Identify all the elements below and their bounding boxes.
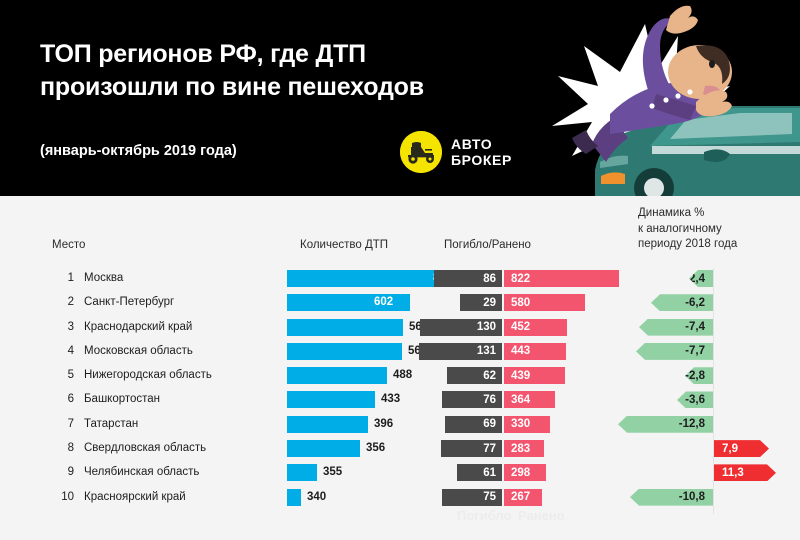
accidents-bar [287, 367, 387, 384]
vintage-car-icon [400, 131, 442, 173]
killed-value: 130 [477, 321, 502, 333]
title-line-2: произошли по вине пешеходов [40, 71, 470, 104]
accidents-value: 602 [374, 296, 393, 308]
killed-bar: 76 [442, 391, 502, 408]
injured-value: 443 [504, 345, 530, 357]
dynamics-value: -2,4 [685, 273, 713, 285]
column-header-count: Количество ДТП [300, 238, 388, 254]
injured-bar: 439 [504, 367, 565, 384]
row-rank: 6 [52, 393, 74, 405]
table-row: 1Москва89386822-2,4 [0, 268, 800, 292]
logo-line-2: БРОКЕР [451, 152, 512, 168]
logo-text: АВТО БРОКЕР [451, 136, 512, 168]
dynamics-header-line-2: к аналогичному [638, 222, 737, 238]
dynamics-decrease-arrow: -6,2 [651, 294, 713, 311]
killed-bar: 69 [445, 416, 502, 433]
row-region-name: Краснодарский край [84, 321, 192, 333]
dynamics-decrease-arrow: -12,8 [618, 416, 713, 433]
injured-value: 364 [504, 394, 530, 406]
accidents-bar [287, 416, 368, 433]
table-row: 5Нижегородская область48862439-2,8 [0, 365, 800, 389]
pedestrian-hit-by-car-illustration [500, 0, 800, 196]
table-row: 4Московская область562131443-7,7 [0, 341, 800, 365]
dynamics-increase-arrow: 11,3 [714, 464, 776, 481]
injured-value: 298 [504, 467, 530, 479]
injured-bar: 580 [504, 294, 585, 311]
row-region-name: Татарстан [84, 418, 138, 430]
dynamics-decrease-arrow: -2,4 [689, 270, 713, 287]
injured-bar: 452 [504, 319, 567, 336]
column-header-dead-injured: Погибло/Ранено [444, 238, 531, 254]
row-rank: 7 [52, 418, 74, 430]
row-region-name: Нижегородская область [84, 369, 212, 381]
dynamics-decrease-arrow: -10,8 [630, 489, 713, 506]
killed-value: 29 [483, 297, 502, 309]
dynamics-value: 7,9 [714, 443, 738, 455]
row-region-name: Москва [84, 272, 123, 284]
logo-line-1: АВТО [451, 136, 512, 152]
row-rank: 9 [52, 466, 74, 478]
row-rank: 8 [52, 442, 74, 454]
killed-value: 69 [483, 418, 502, 430]
table-row: 9Челябинская область3556129811,3 [0, 462, 800, 486]
table-row: 10Красноярский край34075267-10,8 [0, 487, 800, 511]
accidents-bar [287, 319, 403, 336]
dynamics-value: -7,4 [685, 321, 713, 333]
killed-bar: 75 [442, 489, 502, 506]
injured-bar: 267 [504, 489, 542, 506]
killed-bar: 77 [441, 440, 502, 457]
column-header-place: Место [52, 238, 85, 254]
killed-bar: 62 [447, 367, 502, 384]
page-subtitle: (январь-октябрь 2019 года) [40, 143, 237, 159]
dynamics-value: -2,8 [685, 370, 713, 382]
accidents-value: 340 [307, 491, 326, 503]
killed-value: 131 [477, 345, 502, 357]
table-row: 8Свердловская область356772837,9 [0, 438, 800, 462]
accidents-value: 356 [366, 442, 385, 454]
accidents-bar [287, 391, 375, 408]
injured-value: 580 [504, 297, 530, 309]
dynamics-decrease-arrow: -7,7 [636, 343, 713, 360]
injured-value: 439 [504, 370, 530, 382]
dynamics-increase-arrow: 7,9 [714, 440, 769, 457]
header-banner: ТОП регионов РФ, где ДТП произошли по ви… [0, 0, 800, 196]
row-rank: 2 [52, 296, 74, 308]
injured-bar: 364 [504, 391, 555, 408]
killed-bar: 131 [419, 343, 502, 360]
dynamics-decrease-arrow: -7,4 [639, 319, 713, 336]
table-row: 2Санкт-Петербург60229580-6,2 [0, 292, 800, 316]
injured-bar: 822 [504, 270, 619, 287]
row-region-name: Челябинская область [84, 466, 199, 478]
dynamics-value: -12,8 [679, 418, 713, 430]
injured-value: 452 [504, 321, 530, 333]
injured-value: 267 [504, 491, 530, 503]
row-region-name: Санкт-Петербург [84, 296, 174, 308]
injured-bar: 443 [504, 343, 566, 360]
dynamics-value: -10,8 [679, 491, 713, 503]
killed-bar: 130 [420, 319, 502, 336]
killed-bar: 29 [460, 294, 502, 311]
row-region-name: Московская область [84, 345, 193, 357]
killed-value: 62 [483, 370, 502, 382]
accidents-value: 433 [381, 393, 400, 405]
row-region-name: Башкортостан [84, 393, 160, 405]
killed-value: 76 [483, 394, 502, 406]
dynamics-header-line-3: периоду 2018 года [638, 237, 737, 253]
killed-bar: 61 [457, 464, 502, 481]
table-row: 6Башкортостан43376364-3,6 [0, 389, 800, 413]
accidents-bar [287, 440, 360, 457]
legend-ghost-dead: Погибло [457, 508, 511, 523]
killed-bar: 86 [434, 270, 502, 287]
injured-value: 822 [504, 273, 530, 285]
injured-value: 283 [504, 443, 530, 455]
killed-value: 86 [483, 273, 502, 285]
row-rank: 3 [52, 321, 74, 333]
row-rank: 4 [52, 345, 74, 357]
accidents-bar [287, 489, 301, 506]
chart-sheet: Место Количество ДТП Погибло/Ранено Дина… [0, 196, 800, 540]
killed-value: 61 [483, 467, 502, 479]
dynamics-value: -7,7 [685, 345, 713, 357]
table-row: 7Татарстан39669330-12,8 [0, 414, 800, 438]
killed-value: 77 [483, 443, 502, 455]
dynamics-header-line-1: Динамика % [638, 206, 737, 222]
killed-value: 75 [483, 491, 502, 503]
injured-bar: 330 [504, 416, 550, 433]
row-rank: 5 [52, 369, 74, 381]
chart-rows: 1Москва89386822-2,42Санкт-Петербург60229… [0, 268, 800, 511]
page-title: ТОП регионов РФ, где ДТП произошли по ви… [40, 38, 470, 104]
dynamics-decrease-arrow: -2,8 [685, 367, 713, 384]
legend-ghost-injured: Ранено [518, 508, 565, 523]
injured-bar: 283 [504, 440, 544, 457]
dynamics-value: 11,3 [714, 467, 744, 479]
title-line-1: ТОП регионов РФ, где ДТП [40, 38, 470, 71]
row-rank: 10 [52, 491, 74, 503]
row-rank: 1 [52, 272, 74, 284]
injured-value: 330 [504, 418, 530, 430]
row-region-name: Красноярский край [84, 491, 186, 503]
injured-bar: 298 [504, 464, 546, 481]
dynamics-decrease-arrow: -3,6 [677, 391, 713, 408]
table-row: 3Краснодарский край566130452-7,4 [0, 317, 800, 341]
dynamics-value: -6,2 [685, 297, 713, 309]
column-header-dynamics: Динамика % к аналогичному периоду 2018 г… [638, 206, 737, 253]
brand-logo[interactable]: АВТО БРОКЕР [400, 131, 512, 173]
accidents-bar [287, 464, 317, 481]
accidents-value: 396 [374, 418, 393, 430]
dynamics-value: -3,6 [685, 394, 713, 406]
accidents-value: 488 [393, 369, 412, 381]
accidents-value: 355 [323, 466, 342, 478]
accidents-bar [287, 343, 402, 360]
row-region-name: Свердловская область [84, 442, 206, 454]
